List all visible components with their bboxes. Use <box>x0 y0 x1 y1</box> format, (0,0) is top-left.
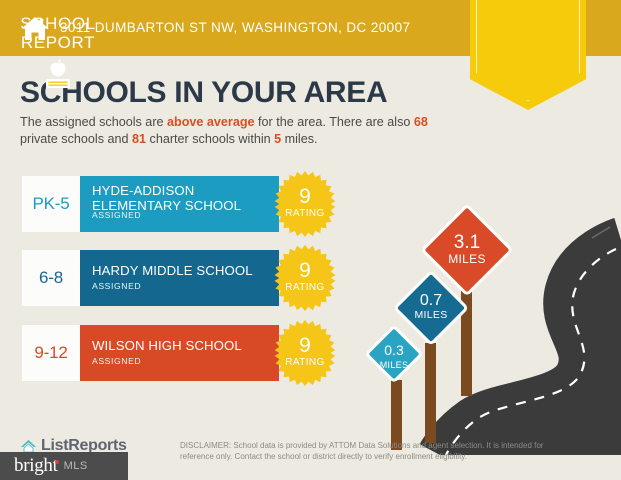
grade-range-badge: 9-12 <box>22 325 80 381</box>
school-status: ASSIGNED <box>92 356 141 366</box>
school-name: HYDE-ADDISON ELEMENTARY SCHOOL <box>92 184 277 213</box>
grade-range-badge: PK-5 <box>22 176 80 232</box>
grade-range-badge: 6-8 <box>22 250 80 306</box>
school-row[interactable]: 6-8 HARDY MIDDLE SCHOOL ASSIGNED <box>22 250 279 306</box>
desc-highlight-above-average: above average <box>167 115 255 129</box>
school-status: ASSIGNED <box>92 281 141 291</box>
school-report-infographic: 3011 DUMBARTON ST NW, WASHINGTON, DC 200… <box>0 0 621 480</box>
badge-border <box>476 0 580 101</box>
school-row[interactable]: 9-12 WILSON HIGH SCHOOL ASSIGNED <box>22 325 279 381</box>
badge-title: SCHOOL REPORT <box>0 14 116 52</box>
rating-label: RATING <box>272 208 338 219</box>
rating-label: RATING <box>272 282 338 293</box>
school-name: WILSON HIGH SCHOOL <box>92 339 277 354</box>
desc-highlight-private-count: 68 <box>414 115 428 129</box>
disclaimer-text: DISCLAIMER: School data is provided by A… <box>180 440 560 462</box>
badge-title-line2: REPORT <box>0 33 116 52</box>
mls-label: MLS <box>64 460 88 472</box>
badge-title-line1: SCHOOL <box>0 14 116 33</box>
school-status: ASSIGNED <box>92 210 141 220</box>
desc-part3: private schools and <box>20 132 132 146</box>
school-name: HARDY MIDDLE SCHOOL <box>92 264 277 279</box>
rating-value: 9 <box>272 185 338 209</box>
school-report-badge <box>470 0 586 110</box>
sign-post <box>425 343 436 443</box>
desc-part1: The assigned schools are <box>20 115 167 129</box>
bright-dot-icon <box>55 460 59 464</box>
summary-description: The assigned schools are above average f… <box>20 114 440 148</box>
rating-badge: 9 RATING <box>272 320 338 386</box>
school-bar: WILSON HIGH SCHOOL ASSIGNED <box>80 325 279 381</box>
rating-badge: 9 RATING <box>272 171 338 237</box>
rating-value: 9 <box>272 334 338 358</box>
desc-highlight-charter-count: 81 <box>132 132 146 146</box>
school-bar: HARDY MIDDLE SCHOOL ASSIGNED <box>80 250 279 306</box>
school-bar: HYDE-ADDISON ELEMENTARY SCHOOL ASSIGNED <box>80 176 279 232</box>
desc-part5: miles. <box>281 132 317 146</box>
apple-on-book-icon <box>38 58 78 92</box>
desc-part2: for the area. There are also <box>255 115 414 129</box>
house-logo-icon <box>20 439 37 453</box>
road-scene: 3.1 MILES 0.7 MILES 0.3 MILES <box>378 205 621 455</box>
rating-badge: 9 RATING <box>272 245 338 311</box>
school-row[interactable]: PK-5 HYDE-ADDISON ELEMENTARY SCHOOL ASSI… <box>22 176 279 232</box>
desc-part4: charter schools within <box>146 132 274 146</box>
bright-mls-watermark: bright MLS <box>0 452 128 480</box>
rating-label: RATING <box>272 357 338 368</box>
bright-label: bright <box>14 455 58 477</box>
rating-value: 9 <box>272 259 338 283</box>
